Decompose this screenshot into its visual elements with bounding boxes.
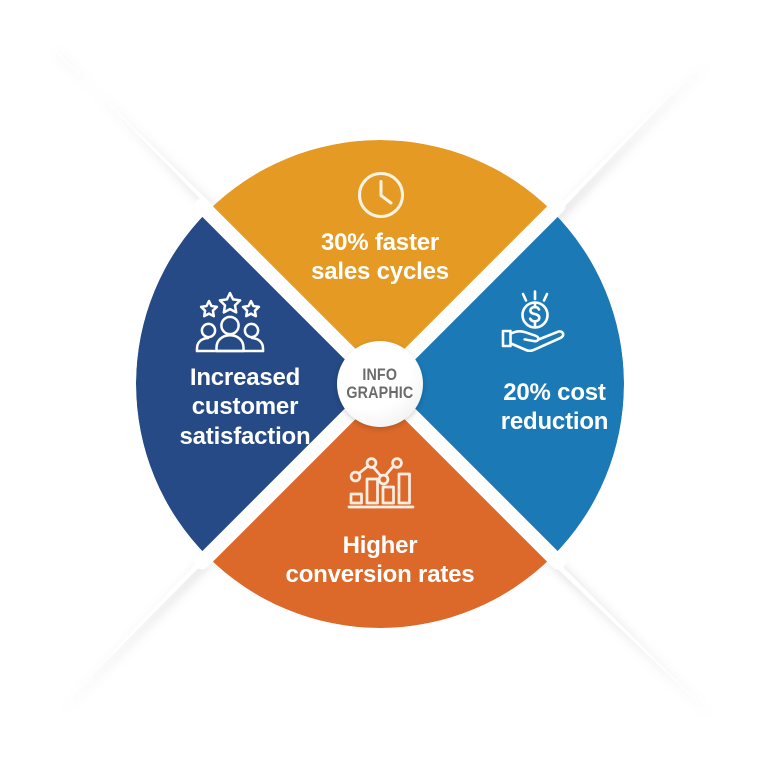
center-badge[interactable]: INFO GRAPHIC <box>337 341 423 427</box>
infographic-canvas: 30% faster sales cycles 20% cost reducti… <box>0 0 768 768</box>
center-badge-line2: GRAPHIC <box>346 384 413 402</box>
center-badge-line1: INFO <box>363 366 398 384</box>
